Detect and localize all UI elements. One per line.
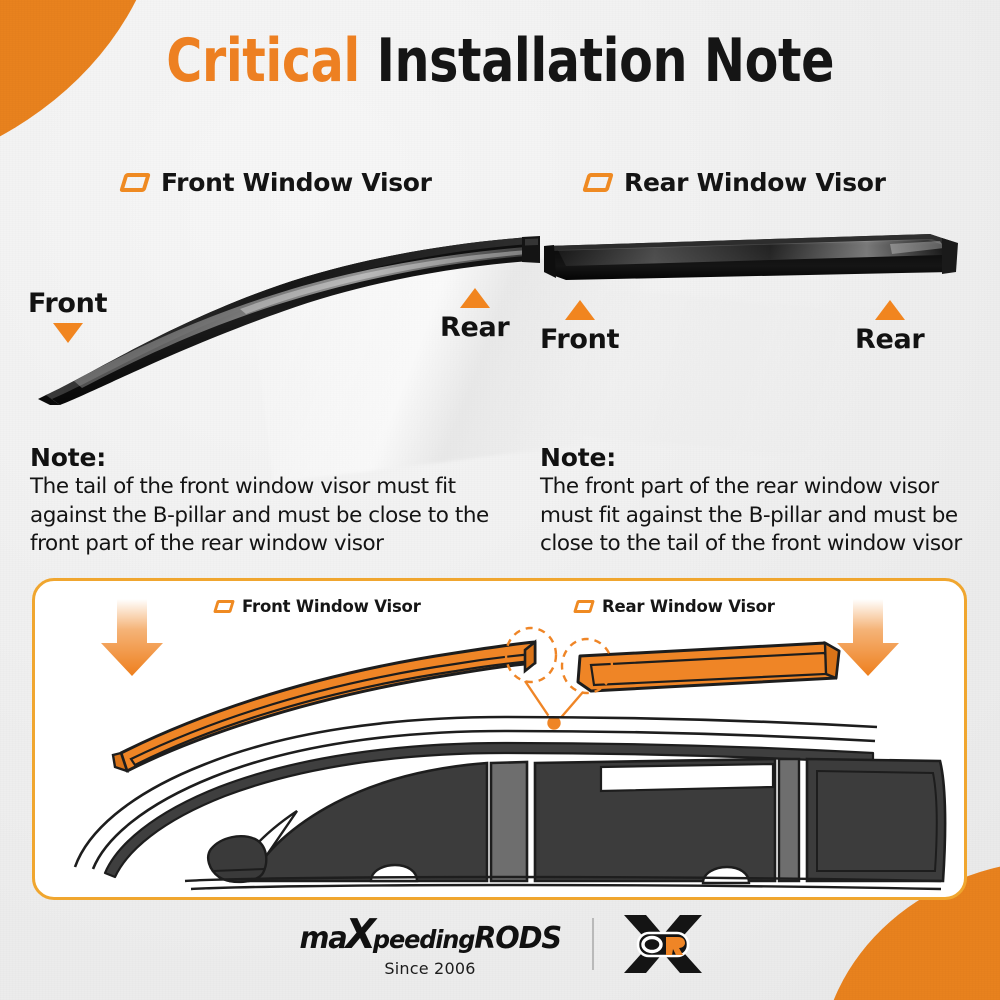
brand-mid: peeding	[373, 925, 474, 954]
diagram-label-front-visor: Front Window Visor	[215, 597, 421, 616]
note-heading: Note:	[540, 443, 990, 472]
direction-marker-rear-right: Rear	[855, 300, 924, 355]
direction-label: Rear	[440, 312, 509, 343]
section-label-rear-visor: Rear Window Visor	[585, 168, 886, 197]
note-body: The tail of the front window visor must …	[30, 473, 508, 559]
brand-footer: maXpeedingRODS Since 2006	[0, 910, 1000, 978]
direction-label: Front	[28, 288, 107, 319]
footer-divider	[592, 918, 594, 970]
note-front-visor: Note: The tail of the front window visor…	[30, 443, 508, 559]
parallelogram-icon	[122, 173, 148, 192]
direction-marker-rear-left: Rear	[440, 288, 509, 343]
direction-label: Rear	[855, 324, 924, 355]
down-arrow-left-icon	[101, 599, 163, 676]
direction-label: Front	[540, 324, 619, 355]
b-pillar	[491, 762, 527, 881]
section-label-text: Front Window Visor	[161, 168, 432, 197]
page-title: Critical Installation Note	[0, 30, 1000, 93]
down-arrow-right-icon	[837, 599, 899, 676]
section-label-front-visor: Front Window Visor	[122, 168, 432, 197]
section-label-text: Rear Window Visor	[624, 168, 886, 197]
diagram-rear-visor-part	[578, 643, 839, 691]
installation-diagram-panel: Front Window Visor Rear Window Visor	[32, 578, 967, 900]
infographic-canvas: Critical Installation Note Front Window …	[0, 0, 1000, 1000]
side-mirror	[208, 836, 266, 882]
c-pillar	[779, 759, 799, 881]
parallelogram-icon	[215, 600, 233, 613]
triangle-up-icon	[565, 300, 595, 320]
triangle-down-icon	[53, 323, 83, 343]
rear-quarter-glass	[807, 759, 945, 881]
brand-since: Since 2006	[384, 959, 475, 978]
car-installation-illustration	[35, 581, 964, 897]
diagram-label-text: Front Window Visor	[242, 597, 421, 616]
brand-x: X	[345, 910, 374, 958]
triangle-up-icon	[460, 288, 490, 308]
title-rest: Installation Note	[360, 26, 834, 96]
note-rear-visor: Note: The front part of the rear window …	[540, 443, 990, 559]
note-body: The front part of the rear window visor …	[540, 473, 990, 559]
triangle-up-icon	[875, 300, 905, 320]
title-accent-word: Critical	[166, 26, 360, 96]
direction-marker-front-left: Front	[28, 288, 107, 343]
brand-suffix: RODS	[474, 921, 561, 956]
brand-prefix: ma	[299, 921, 346, 956]
parallelogram-icon	[575, 600, 593, 613]
brand-wordmark: maXpeedingRODS	[299, 910, 561, 958]
corner-accent-top-left	[0, 0, 175, 186]
oxr-logo-icon	[620, 913, 706, 975]
direction-marker-front-right: Front	[540, 300, 619, 355]
diagram-label-text: Rear Window Visor	[602, 597, 775, 616]
diagram-label-rear-visor: Rear Window Visor	[575, 597, 775, 616]
rear-window-visor-photo	[540, 228, 960, 298]
maxpeedingrods-logo: maXpeedingRODS Since 2006	[294, 910, 566, 978]
note-heading: Note:	[30, 443, 508, 472]
parallelogram-icon	[585, 173, 611, 192]
